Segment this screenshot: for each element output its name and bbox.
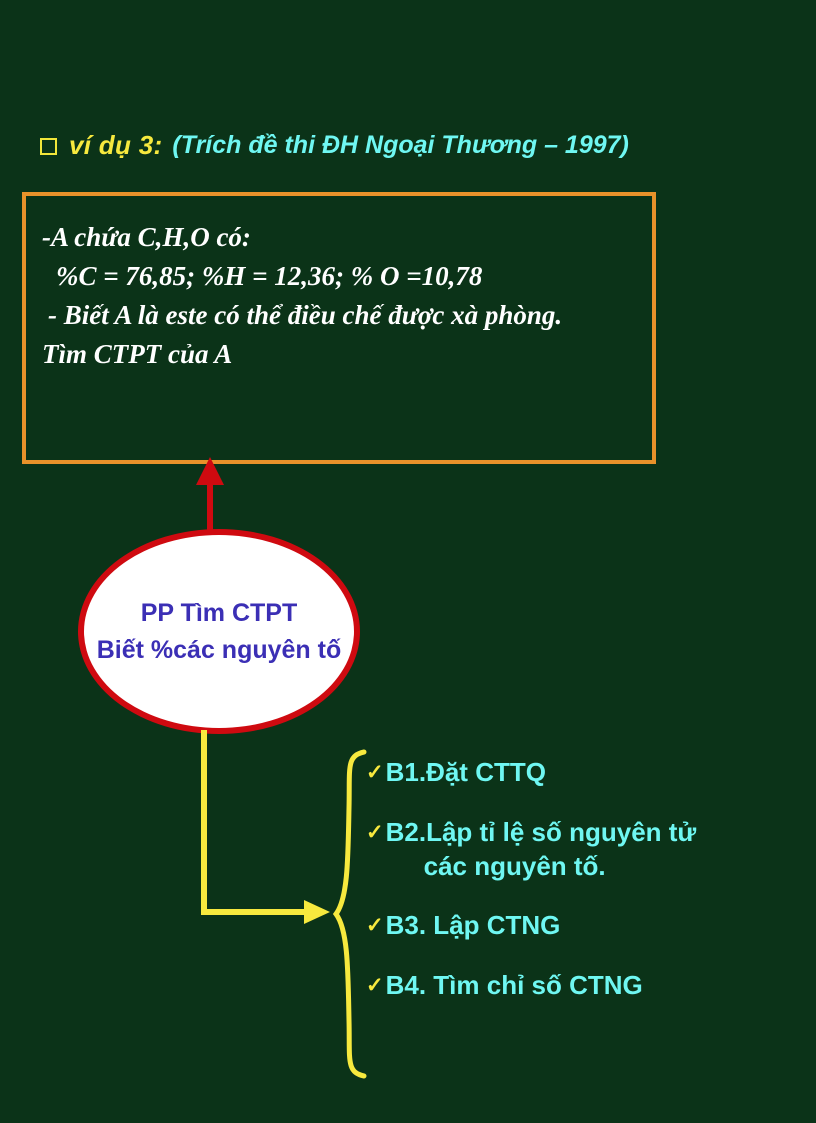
check-icon: ✓ [366, 822, 384, 843]
square-bullet-icon [40, 138, 57, 155]
yellow-elbow-arrow-icon [180, 730, 340, 930]
steps-list: ✓ B1.Đặt CTTQ ✓ B2.Lập tỉ lệ số nguyên t… [366, 756, 786, 1029]
yellow-brace-icon [330, 748, 370, 1080]
title-label: ví dụ 3: [69, 130, 162, 161]
slide-canvas: ví dụ 3: (Trích đề thi ĐH Ngoại Thương –… [0, 0, 816, 1123]
step-item: ✓ B2.Lập tỉ lệ số nguyên tử các nguyên t… [366, 816, 786, 884]
problem-line-4: Tìm CTPT của A [42, 335, 636, 374]
problem-line-3: - Biết A là este có thể điều chế được xà… [42, 296, 636, 335]
step-2-line2: các nguyên tố. [386, 850, 697, 884]
step-item: ✓ B3. Lập CTNG [366, 909, 786, 943]
step-2-label: B2.Lập tỉ lệ số nguyên tử các nguyên tố. [386, 816, 697, 884]
title-source: (Trích đề thi ĐH Ngoại Thương – 1997) [172, 131, 628, 160]
check-icon: ✓ [366, 762, 384, 783]
slide-title: ví dụ 3: (Trích đề thi ĐH Ngoại Thương –… [40, 130, 629, 161]
step-item: ✓ B4. Tìm chỉ số CTNG [366, 969, 786, 1003]
check-icon: ✓ [366, 975, 384, 996]
ellipse-line-2: Biết %các nguyên tố [97, 632, 342, 668]
problem-statement-box: -A chứa C,H,O có: %C = 76,85; %H = 12,36… [22, 192, 656, 464]
problem-line-2: %C = 76,85; %H = 12,36; % O =10,78 [42, 257, 636, 296]
step-3-label: B3. Lập CTNG [386, 909, 561, 943]
check-icon: ✓ [366, 915, 384, 936]
step-4-label: B4. Tìm chỉ số CTNG [386, 969, 643, 1003]
method-ellipse: PP Tìm CTPT Biết %các nguyên tố [78, 529, 360, 734]
step-2-line1: B2.Lập tỉ lệ số nguyên tử [386, 817, 697, 847]
step-1-label: B1.Đặt CTTQ [386, 756, 546, 790]
ellipse-line-1: PP Tìm CTPT [141, 595, 298, 631]
problem-line-1: -A chứa C,H,O có: [42, 218, 636, 257]
step-item: ✓ B1.Đặt CTTQ [366, 756, 786, 790]
